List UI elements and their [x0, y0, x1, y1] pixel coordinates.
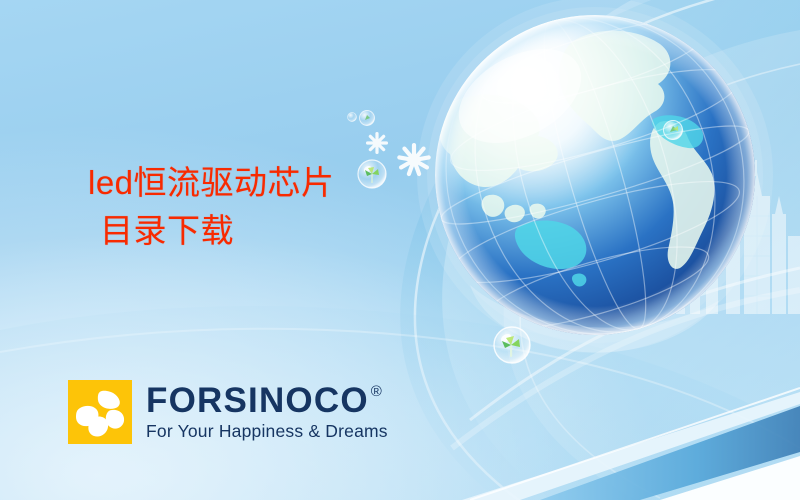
bubble-pinwheel-small: [360, 111, 375, 126]
logo-wordmark-text: FORSINOCO: [146, 383, 369, 418]
bubble-pinwheel-tiny: [348, 113, 357, 122]
starburst-flower-large: [397, 143, 431, 177]
company-logo: FORSINOCO ® For Your Happiness & Dreams: [68, 380, 388, 444]
bubble-pinwheel-medium: [358, 160, 386, 188]
logo-tagline: For Your Happiness & Dreams: [146, 423, 388, 441]
registered-trademark-icon: ®: [371, 384, 383, 399]
headline-line-2: 目录下载: [88, 210, 335, 252]
logo-wordmark: FORSINOCO ®: [146, 383, 388, 418]
headline-line-1: led恒流驱动芯片: [88, 164, 335, 201]
bubble-pinwheel-edge: [664, 121, 683, 140]
promo-banner: led恒流驱动芯片 目录下载 FORSINOCO ® For Your Happ…: [0, 0, 800, 500]
bubble-pinwheel-large: [494, 327, 530, 363]
logo-text-block: FORSINOCO ® For Your Happiness & Dreams: [146, 383, 388, 441]
forsinoco-pinwheel-emblem: [68, 380, 132, 444]
page-title: led恒流驱动芯片 目录下载: [88, 162, 335, 252]
starburst-flower-small: [366, 132, 388, 154]
